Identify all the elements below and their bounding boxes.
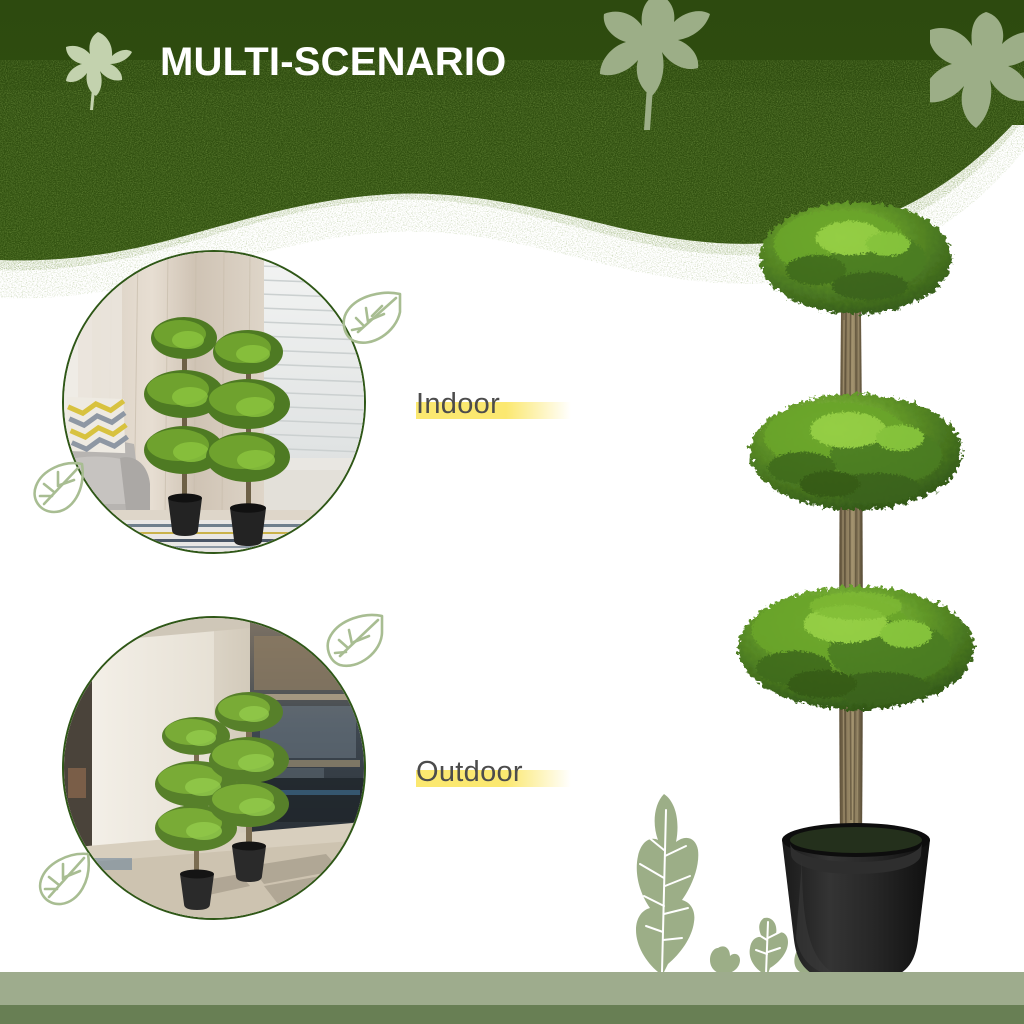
outline-leaf-icon [338,288,404,346]
outdoor-patio-illustration [64,618,364,918]
scene-photo-indoor[interactable] [62,250,366,554]
scene-photo-outdoor[interactable] [62,616,366,920]
outline-leaf-icon [28,456,90,518]
ground-band-dark [0,1005,1024,1024]
outline-leaf-icon [34,848,96,910]
fern-leaf-icon [58,26,136,114]
outdoor-label-text: Outdoor [416,756,523,789]
indoor-label-text: Indoor [416,388,500,421]
monstera-leaf-icon [592,0,722,132]
label-outdoor: Outdoor [416,756,523,789]
monstera-leaf-icon [930,8,1024,158]
product-pot [782,823,930,982]
indoor-room-illustration [64,252,364,552]
banner-canvas: MULTI-SCENARIO [0,0,1024,1024]
ground-band-light [0,972,1024,1005]
page-title: MULTI-SCENARIO [160,40,506,85]
header-background [0,0,1024,125]
label-indoor: Indoor [416,388,500,421]
product-topiary-tree [690,140,1024,1010]
outline-leaf-icon [322,612,388,670]
